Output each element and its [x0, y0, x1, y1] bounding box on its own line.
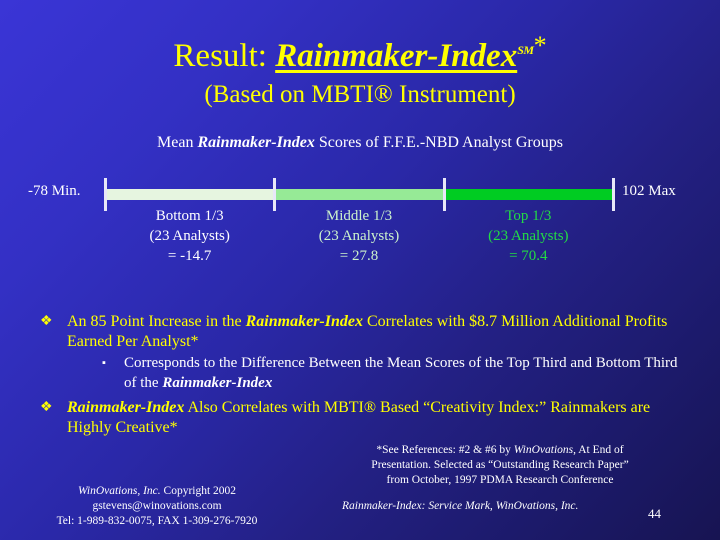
group-mean-value: = -14.7: [105, 246, 274, 266]
reference-line-1-a: *See References: #2 & #6 by: [376, 444, 513, 456]
page-number: 44: [648, 506, 661, 522]
chart-caption-prefix: Mean: [157, 134, 197, 151]
axis-min-label: -78 Min.: [28, 183, 81, 200]
title-subtitle: (Based on MBTI® Instrument): [0, 79, 720, 111]
square-bullet-icon: ▪: [102, 353, 124, 373]
title-superscript-sm: SM: [517, 43, 533, 57]
contact-company: WinOvations, Inc.: [78, 485, 161, 497]
service-mark-middle: : Service Mark,: [422, 500, 496, 512]
group-column-1: Bottom 1/3(23 Analysts)= -14.7: [105, 206, 274, 276]
contact-phone: Tel: 1-989-832-0075, FAX 1-309-276-7920: [22, 514, 292, 529]
chart-caption: Mean Rainmaker-Index Scores of F.F.E.-NB…: [0, 134, 720, 152]
bullet-emphasis: Rainmaker-Index: [162, 375, 272, 391]
group-count: (23 Analysts): [105, 226, 274, 246]
reference-line-2: Presentation. Selected as “Outstanding R…: [340, 458, 660, 473]
bullet-text: Corresponds to the Difference Between th…: [124, 353, 690, 393]
reference-line-1-b: , At End of: [573, 444, 623, 456]
bullet-plain: An 85 Point Increase in the: [67, 313, 246, 330]
group-column-2: Middle 1/3(23 Analysts)= 27.8: [274, 206, 443, 276]
group-count: (23 Analysts): [274, 226, 443, 246]
bullet-emphasis: Rainmaker-Index: [67, 399, 184, 416]
group-name: Top 1/3: [444, 206, 613, 226]
group-mean-value: = 70.4: [444, 246, 613, 266]
service-mark-company: WinOvations, Inc.: [496, 500, 579, 512]
bar-segment-2: [274, 189, 443, 200]
group-count: (23 Analysts): [444, 226, 613, 246]
group-column-3: Top 1/3(23 Analysts)= 70.4: [444, 206, 613, 276]
bar-segment-3: [444, 189, 613, 200]
reference-note: *See References: #2 & #6 by WinOvations,…: [340, 443, 660, 488]
chart-caption-suffix: Scores of F.F.E.-NBD Analyst Groups: [315, 134, 563, 151]
reference-line-1: *See References: #2 & #6 by WinOvations,…: [340, 443, 660, 458]
bar-segment-1: [105, 189, 274, 200]
reference-line-1-company: WinOvations: [514, 444, 573, 456]
diamond-bullet-icon: ❖: [40, 398, 67, 418]
reference-line-3: from October, 1997 PDMA Research Confere…: [340, 473, 660, 488]
group-name: Middle 1/3: [274, 206, 443, 226]
group-label-row: Bottom 1/3(23 Analysts)= -14.7Middle 1/3…: [105, 206, 613, 276]
bullet-item-2: ▪Corresponds to the Difference Between t…: [102, 353, 690, 393]
bullet-item-3: ❖Rainmaker-Index Also Correlates with MB…: [40, 398, 690, 438]
service-mark-note: Rainmaker-Index: Service Mark, WinOvatio…: [342, 500, 578, 512]
service-mark-name: Rainmaker-Index: [342, 500, 422, 512]
slide-title-block: Result: Rainmaker-IndexSM* (Based on MBT…: [0, 26, 720, 111]
chart-caption-emphasis: Rainmaker-Index: [197, 134, 314, 151]
contact-email[interactable]: gstevens@winovations.com: [22, 499, 292, 514]
bullet-emphasis: Rainmaker-Index: [246, 313, 363, 330]
bar-track: [105, 189, 613, 200]
contact-company-line: WinOvations, Inc. Copyright 2002: [22, 484, 292, 499]
title-prefix: Result:: [173, 38, 267, 74]
title-asterisk: *: [534, 31, 547, 60]
bullet-text: An 85 Point Increase in the Rainmaker-In…: [67, 312, 690, 352]
group-name: Bottom 1/3: [105, 206, 274, 226]
diamond-bullet-icon: ❖: [40, 312, 67, 332]
bullet-item-1: ❖An 85 Point Increase in the Rainmaker-I…: [40, 312, 690, 352]
contact-block: WinOvations, Inc. Copyright 2002 gsteven…: [22, 484, 292, 529]
bullet-list: ❖An 85 Point Increase in the Rainmaker-I…: [40, 312, 690, 438]
axis-max-label: 102 Max: [622, 183, 676, 200]
title-trademark-name: Rainmaker-Index: [275, 38, 517, 74]
bullet-text: Rainmaker-Index Also Correlates with MBT…: [67, 398, 690, 438]
group-mean-value: = 27.8: [274, 246, 443, 266]
title-line-primary: Result: Rainmaker-IndexSM*: [0, 26, 720, 76]
slide-canvas: Result: Rainmaker-IndexSM* (Based on MBT…: [0, 0, 720, 540]
contact-copyright: Copyright 2002: [161, 485, 236, 497]
